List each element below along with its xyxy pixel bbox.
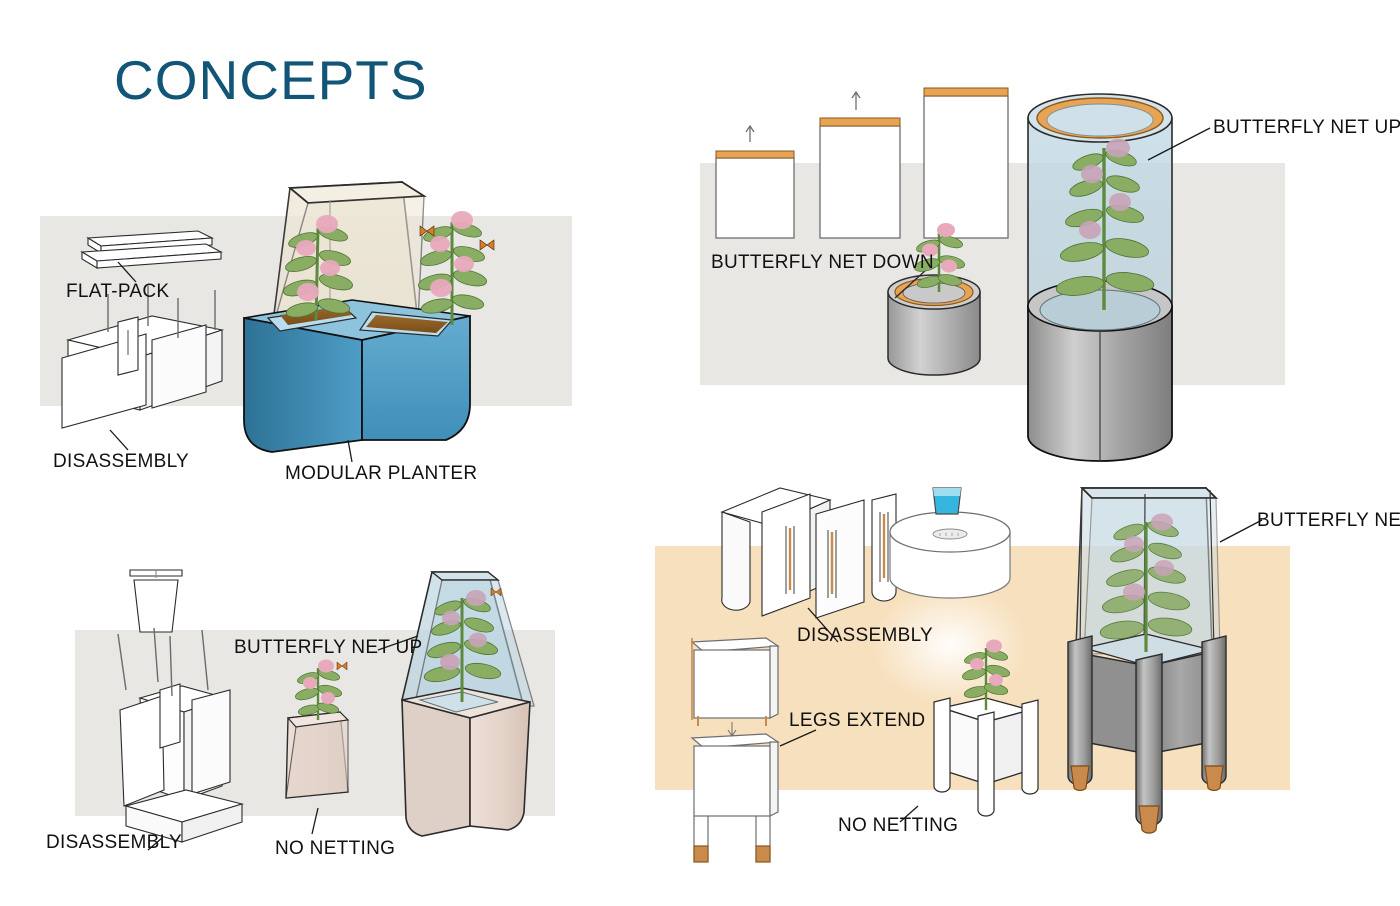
no-netting-label-2: NO NETTING (838, 815, 958, 837)
modular-planter-label: MODULAR PLANTER (285, 463, 477, 485)
concept-modular-planter-illustration (0, 0, 620, 500)
no-netting-label: NO NETTING (275, 838, 395, 860)
telescoping-stage-sketches (716, 88, 1008, 238)
cylinder-planter-net-up (1028, 94, 1172, 461)
flat-pack-label: FLAT-PACK (66, 281, 169, 303)
plant-right (417, 211, 488, 325)
disassembly-exploded-sketch (62, 286, 222, 428)
butterfly-net-up-label: BUTTERFLY NET UP (1213, 117, 1400, 139)
disassembly-label: DISASSEMBLY (53, 451, 189, 473)
concept-board: CONCEPTS (0, 0, 1400, 906)
disassembly-label-3: DISASSEMBLY (797, 625, 933, 647)
legged-planter-product (1068, 488, 1226, 833)
disassembly-exploded-tapered (118, 628, 242, 842)
butterfly-net-up-label-2: BUTTERFLY NET UP (234, 637, 423, 659)
water-glass-icon (933, 488, 961, 514)
lid-sketch (130, 570, 182, 632)
disassembly-exploded-legged (722, 488, 896, 618)
butterfly-net-label: BUTTERFLY NET (1257, 510, 1400, 532)
butterfly-net-down-label: BUTTERFLY NET DOWN (711, 252, 934, 274)
modular-planter-product (244, 182, 494, 452)
concept-legged-planter-illustration (650, 470, 1400, 890)
flat-pack-sketch (82, 231, 221, 268)
legs-extend-sketch (692, 638, 778, 862)
disassembly-label-2: DISASSEMBLY (46, 832, 182, 854)
tapered-planter-no-netting (286, 660, 348, 799)
tapered-planter-net-up (402, 572, 534, 836)
legs-extend-label: LEGS EXTEND (789, 710, 925, 732)
cylinder-planter-net-down (888, 223, 980, 375)
planter-body (244, 300, 470, 452)
